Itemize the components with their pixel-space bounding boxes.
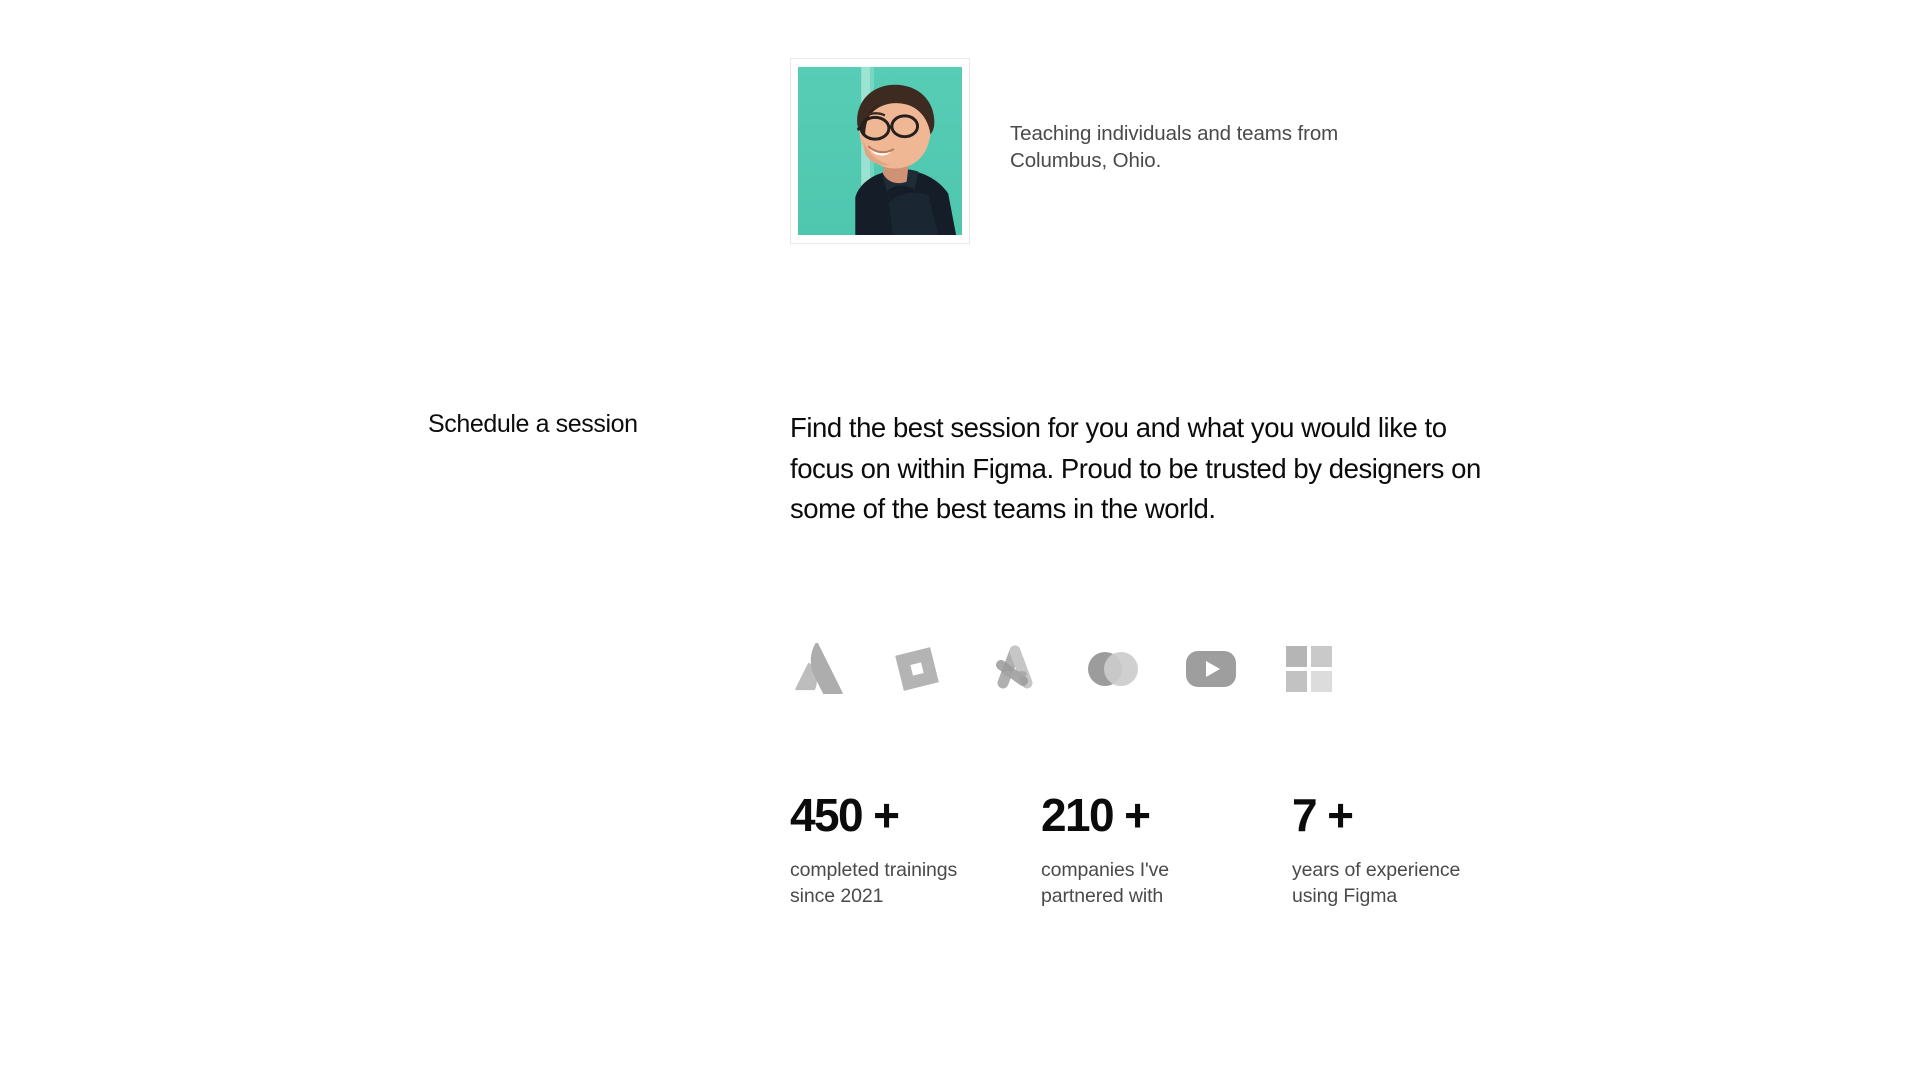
airtasker-logo [986,640,1044,698]
atlassian-logo [790,640,848,698]
microsoft-logo [1280,640,1338,698]
profile-block: Teaching individuals and teams from Colu… [790,58,1430,244]
portrait-frame [790,58,970,244]
stat-item: 450 + completed trainings since 2021 [790,792,1041,910]
section-label: Schedule a session [428,408,678,441]
partner-logo-row [790,640,1338,698]
stat-caption: companies I've partnered with [1041,857,1231,910]
stat-item: 210 + companies I've partnered with [1041,792,1292,910]
roblox-logo [888,640,946,698]
page-root: Teaching individuals and teams from Colu… [0,0,1920,1080]
stats-row: 450 + completed trainings since 2021 210… [790,792,1543,910]
lede-paragraph: Find the best session for you and what y… [790,408,1505,530]
intro-text: Teaching individuals and teams from Colu… [1010,120,1430,175]
portrait-photo [798,67,962,235]
stat-item: 7 + years of experience using Figma [1292,792,1543,910]
stat-value: 210 + [1041,792,1292,838]
youtube-logo [1182,640,1240,698]
stat-caption: completed trainings since 2021 [790,857,980,910]
stat-caption: years of experience using Figma [1292,857,1502,910]
stat-value: 7 + [1292,792,1543,838]
stat-value: 450 + [790,792,1041,838]
mastercard-logo [1084,640,1142,698]
